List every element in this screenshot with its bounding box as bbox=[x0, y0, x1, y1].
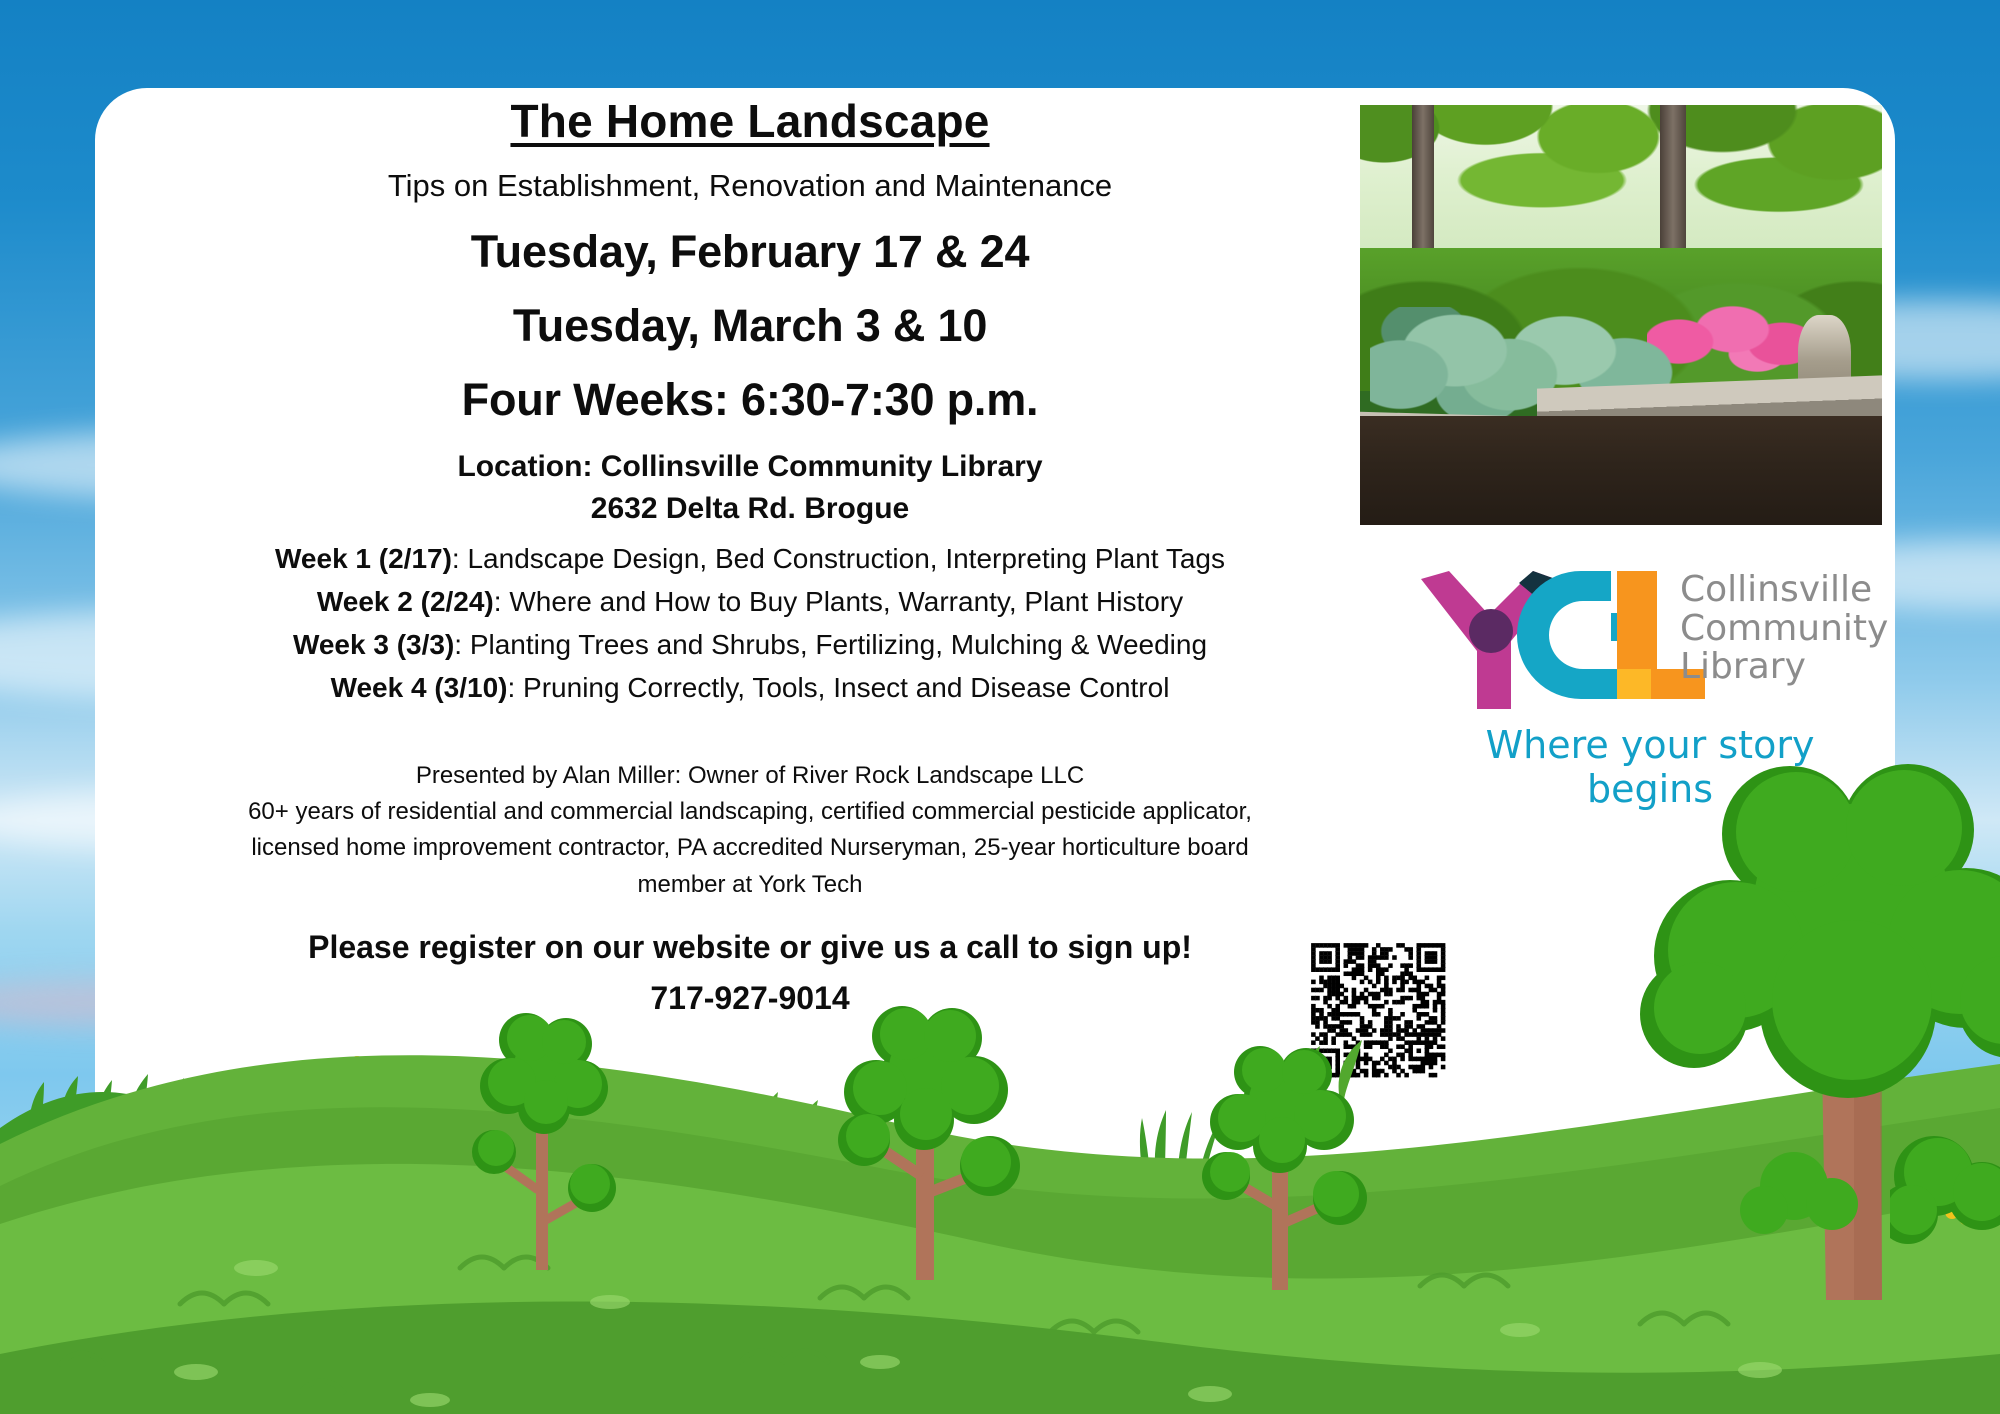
garden-photo-hostas-stone-bench bbox=[1360, 105, 1882, 525]
address-line: 2632 Delta Rd. Brogue bbox=[150, 492, 1350, 526]
ycl-library-logo: Collinsville Community Library Where you… bbox=[1415, 565, 1885, 780]
flyer-canvas: Collinsville Community Library Where you… bbox=[0, 0, 2000, 1414]
logo-name-line-3: Library bbox=[1680, 648, 1888, 687]
shrub-midright bbox=[1740, 1130, 1870, 1300]
schedule-row: Week 3 (3/3): Planting Trees and Shrubs,… bbox=[150, 628, 1350, 662]
location-line: Location: Collinsville Community Library bbox=[150, 450, 1350, 484]
bio-line: Presented by Alan Miller: Owner of River… bbox=[150, 760, 1350, 792]
bio-line: 60+ years of residential and commercial … bbox=[150, 796, 1350, 828]
date-line-1: Tuesday, February 17 & 24 bbox=[150, 226, 1350, 278]
schedule-week-label: Week 3 (3/3) bbox=[293, 629, 454, 660]
date-line-3: Four Weeks: 6:30-7:30 p.m. bbox=[150, 374, 1350, 426]
schedule-week-label: Week 1 (2/17) bbox=[275, 543, 452, 574]
page-title: The Home Landscape bbox=[150, 94, 1350, 148]
small-tree-middle bbox=[810, 1000, 1040, 1280]
bio-line: licensed home improvement contractor, PA… bbox=[150, 832, 1350, 864]
small-tree-left bbox=[450, 1000, 630, 1270]
schedule-week-label: Week 2 (2/24) bbox=[317, 586, 494, 617]
logo-name-line-2: Community bbox=[1680, 610, 1888, 649]
schedule-row: Week 2 (2/24): Where and How to Buy Plan… bbox=[150, 585, 1350, 619]
bush-right-edge bbox=[1890, 1110, 2000, 1300]
schedule-week-topics: : Pruning Correctly, Tools, Insect and D… bbox=[507, 672, 1169, 703]
presenter-bio: Presented by Alan Miller: Owner of River… bbox=[150, 760, 1350, 902]
schedule-week-topics: : Planting Trees and Shrubs, Fertilizing… bbox=[454, 629, 1207, 660]
schedule-week-label: Week 4 (3/10) bbox=[331, 672, 508, 703]
logo-library-name: Collinsville Community Library bbox=[1680, 571, 1888, 687]
schedule-week-topics: : Landscape Design, Bed Construction, In… bbox=[452, 543, 1225, 574]
schedule-week-topics: : Where and How to Buy Plants, Warranty,… bbox=[494, 586, 1183, 617]
weekly-schedule-list: Week 1 (2/17): Landscape Design, Bed Con… bbox=[150, 542, 1350, 706]
schedule-row: Week 1 (2/17): Landscape Design, Bed Con… bbox=[150, 542, 1350, 576]
date-line-2: Tuesday, March 3 & 10 bbox=[150, 300, 1350, 352]
logo-name-line-1: Collinsville bbox=[1680, 571, 1888, 610]
small-tree-right-center bbox=[1180, 1040, 1380, 1290]
flyer-text-content: The Home Landscape Tips on Establishment… bbox=[150, 88, 1350, 1017]
schedule-row: Week 4 (3/10): Pruning Correctly, Tools,… bbox=[150, 671, 1350, 705]
ycl-monogram-icon bbox=[1415, 565, 1705, 715]
flyer-subtitle: Tips on Establishment, Renovation and Ma… bbox=[150, 168, 1350, 204]
